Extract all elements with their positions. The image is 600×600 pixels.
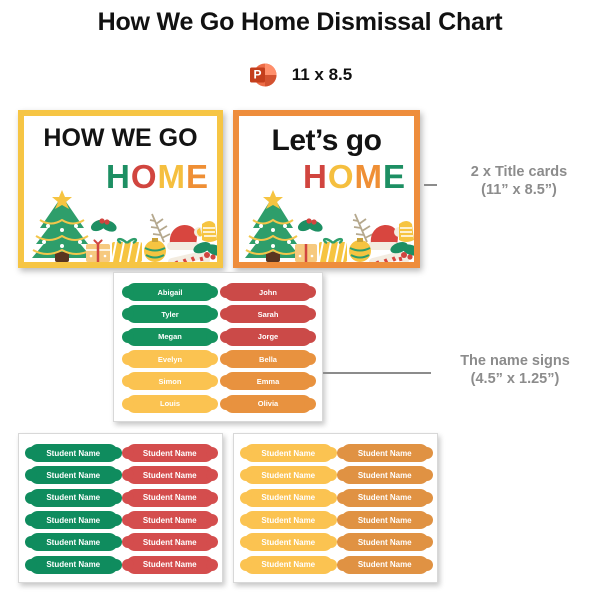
name-sign-simon[interactable]: Simon [126,372,214,390]
student-name-cell: Student Name [341,487,430,509]
student-name-pill[interactable]: Student Name [126,466,215,484]
student-name-pill[interactable]: Student Name [126,444,215,462]
title-cards-annotation-line1: 2 x Title cards [471,164,567,180]
student-name-cell: Student Name [341,442,430,464]
holiday-illustration [239,190,414,262]
home-letter-e-3: E [186,160,209,193]
student-name-pill[interactable]: Student Name [341,489,430,507]
title-card-0-home-word: HOME [106,160,209,193]
home-letter-o-1: O [131,160,158,193]
name-sign-evelyn[interactable]: Evelyn [126,350,214,368]
student-name-cell: Student Name [29,464,118,486]
name-sign-cell: John [224,281,312,303]
title-card-1-home-word: HOME [303,160,406,193]
home-letter-h-0: H [106,160,131,193]
name-sign-sarah[interactable]: Sarah [224,305,312,323]
student-name-cell: Student Name [341,464,430,486]
student-name-cell: Student Name [126,487,215,509]
name-sign-cell: Abigail [126,281,214,303]
name-sign-olivia[interactable]: Olivia [224,395,312,413]
dismissal-chart-preview: How We Go Home Dismissal Chart P 11 x 8.… [0,0,600,600]
student-name-cell: Student Name [126,464,215,486]
student-name-cell: Student Name [29,554,118,576]
name-sign-john[interactable]: John [224,283,312,301]
name-signs-annotation-line1: The name signs [460,353,570,369]
student-name-pill[interactable]: Student Name [29,556,118,574]
student-name-cell: Student Name [244,487,333,509]
name-sign-emma[interactable]: Emma [224,372,312,390]
slide-size-label: 11 x 8.5 [292,65,353,85]
name-sign-abigail[interactable]: Abigail [126,283,214,301]
home-letter-m-2: M [354,160,383,193]
powerpoint-icon: P [248,60,278,90]
student-name-cell: Student Name [29,531,118,553]
name-signs-annotation-line2: (4.5” x 1.25”) [432,370,598,388]
student-name-cell: Student Name [126,531,215,553]
name-sign-cell: Evelyn [126,348,214,370]
student-name-cell: Student Name [244,442,333,464]
holiday-illustration [24,190,217,262]
student-name-pill[interactable]: Student Name [244,511,333,529]
file-size-row: P 11 x 8.5 [0,60,600,90]
student-name-pill[interactable]: Student Name [341,533,430,551]
name-sign-jorge[interactable]: Jorge [224,328,312,346]
template-grid-0: Student NameStudent NameStudent NameStud… [29,442,214,576]
template-grid-1: Student NameStudent NameStudent NameStud… [244,442,429,576]
student-name-cell: Student Name [29,509,118,531]
student-name-cell: Student Name [244,554,333,576]
page-title: How We Go Home Dismissal Chart [0,8,600,37]
student-name-pill[interactable]: Student Name [29,466,118,484]
student-name-pill[interactable]: Student Name [244,556,333,574]
home-letter-m-2: M [157,160,186,193]
student-name-pill[interactable]: Student Name [244,533,333,551]
title-card-lets-go-home[interactable]: Let’s go HOME [233,110,420,268]
student-name-cell: Student Name [244,531,333,553]
student-name-pill[interactable]: Student Name [126,556,215,574]
green-red-template-sheet[interactable]: Student NameStudent NameStudent NameStud… [18,433,223,583]
name-sign-bella[interactable]: Bella [224,350,312,368]
title-cards-annotation: 2 x Title cards (11” x 8.5”) [440,163,598,199]
name-signs-leader-line [323,372,431,374]
student-name-cell: Student Name [341,509,430,531]
name-sign-cell: Jorge [224,326,312,348]
name-sign-cell: Megan [126,326,214,348]
student-name-cell: Student Name [341,531,430,553]
student-name-cell: Student Name [126,442,215,464]
student-name-pill[interactable]: Student Name [341,511,430,529]
name-sign-louis[interactable]: Louis [126,395,214,413]
student-name-pill[interactable]: Student Name [341,556,430,574]
student-name-cell: Student Name [244,464,333,486]
name-sign-cell: Emma [224,370,312,392]
title-cards-annotation-line2: (11” x 8.5”) [440,181,598,199]
student-name-pill[interactable]: Student Name [244,466,333,484]
student-name-pill[interactable]: Student Name [341,444,430,462]
title-card-0-heading: HOW WE GO [24,124,217,153]
student-name-cell: Student Name [126,509,215,531]
student-name-cell: Student Name [341,554,430,576]
title-card-1-heading: Let’s go [239,124,414,158]
name-signs-grid: AbigailJohnTylerSarahMeganJorgeEvelynBel… [126,281,312,415]
student-name-pill[interactable]: Student Name [126,533,215,551]
name-sign-cell: Tyler [126,303,214,325]
yellow-orange-template-sheet[interactable]: Student NameStudent NameStudent NameStud… [233,433,438,583]
student-name-pill[interactable]: Student Name [244,444,333,462]
student-name-cell: Student Name [29,442,118,464]
home-letter-h-0: H [303,160,328,193]
name-sign-cell: Olivia [224,393,312,415]
student-name-pill[interactable]: Student Name [126,489,215,507]
student-name-pill[interactable]: Student Name [29,533,118,551]
home-letter-e-3: E [383,160,406,193]
student-name-pill[interactable]: Student Name [29,444,118,462]
student-name-pill[interactable]: Student Name [244,489,333,507]
name-signs-sheet[interactable]: AbigailJohnTylerSarahMeganJorgeEvelynBel… [113,272,323,422]
student-name-cell: Student Name [244,509,333,531]
home-letter-o-1: O [328,160,355,193]
name-sign-cell: Bella [224,348,312,370]
name-signs-annotation: The name signs (4.5” x 1.25”) [432,352,598,388]
student-name-pill[interactable]: Student Name [29,511,118,529]
title-card-how-we-go-home[interactable]: HOW WE GO HOME [18,110,223,268]
svg-text:P: P [253,67,261,81]
student-name-pill[interactable]: Student Name [29,489,118,507]
student-name-cell: Student Name [126,554,215,576]
student-name-pill[interactable]: Student Name [126,511,215,529]
name-sign-cell: Louis [126,393,214,415]
student-name-cell: Student Name [29,487,118,509]
name-sign-cell: Sarah [224,303,312,325]
student-name-pill[interactable]: Student Name [341,466,430,484]
name-sign-megan[interactable]: Megan [126,328,214,346]
name-sign-tyler[interactable]: Tyler [126,305,214,323]
name-sign-cell: Simon [126,370,214,392]
title-cards-leader-line [424,184,437,186]
